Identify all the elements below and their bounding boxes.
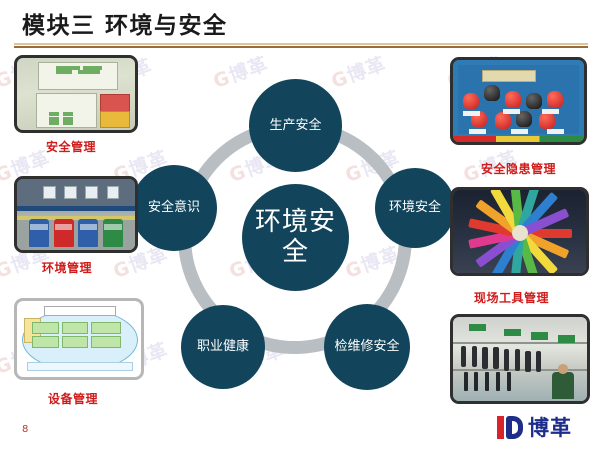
shelf-tag bbox=[504, 329, 521, 337]
tool-fan-hub bbox=[512, 225, 528, 241]
photo-environment-management-image bbox=[17, 179, 135, 250]
blue-rail bbox=[17, 206, 135, 211]
hanging-tool bbox=[504, 349, 509, 371]
diagram-node-environmental-safety[interactable]: 环境安全 bbox=[375, 168, 455, 248]
caption-hazard-management: 安全隐患管理 bbox=[481, 160, 556, 177]
board-panel-yellow bbox=[100, 111, 130, 127]
slide-canvas: G博革 G博革 G博革 G博革 G博革 G博革 G博革 G博革 G博革 G博革 … bbox=[0, 0, 600, 450]
photo-hazard-management-image bbox=[453, 60, 584, 142]
board-bar bbox=[63, 121, 74, 125]
diagram-node-occupational-health[interactable]: 职业健康 bbox=[181, 305, 265, 389]
watermark-glyph: G bbox=[0, 257, 16, 283]
diagram-title-box bbox=[44, 306, 115, 316]
wall-monitor bbox=[43, 186, 56, 199]
diagram-node-safety-awareness[interactable]: 安全意识 bbox=[131, 165, 217, 251]
valve-handle-black bbox=[484, 85, 500, 101]
shelf-tag bbox=[558, 335, 575, 343]
logo-mark-icon bbox=[497, 416, 523, 439]
board-label bbox=[469, 129, 486, 134]
board-label bbox=[547, 129, 564, 134]
board-bar bbox=[49, 121, 60, 125]
watermark-text: 博革 bbox=[344, 53, 389, 87]
valve-handle-red bbox=[547, 91, 563, 107]
board-bar bbox=[49, 112, 60, 116]
caption-environment-management: 环境管理 bbox=[42, 259, 92, 276]
valve-handle-red bbox=[505, 91, 521, 107]
photo-tool-wall bbox=[450, 314, 590, 404]
board-bar bbox=[63, 112, 74, 116]
board-panel-top bbox=[38, 62, 118, 90]
photo-hazard-management bbox=[450, 57, 587, 145]
page-number: 8 bbox=[22, 424, 28, 435]
board-label bbox=[511, 129, 528, 134]
hanging-tool bbox=[461, 346, 466, 368]
shelf-tag bbox=[469, 324, 486, 332]
wall-monitor bbox=[107, 186, 120, 199]
hanging-tool bbox=[507, 372, 511, 390]
hanging-tool bbox=[474, 372, 478, 390]
hanging-tool bbox=[472, 346, 477, 368]
diagram-cell bbox=[91, 336, 120, 348]
hanging-tool bbox=[482, 347, 487, 369]
hanging-tool bbox=[525, 351, 530, 373]
recycling-bin-green bbox=[103, 219, 123, 247]
photo-equipment-management bbox=[14, 298, 144, 380]
recycling-bin-blue bbox=[29, 219, 49, 247]
page-title: 模块三 环境与安全 bbox=[22, 6, 228, 40]
wall-monitor bbox=[64, 186, 77, 199]
wall-monitor bbox=[85, 186, 98, 199]
diagram-footer-box bbox=[27, 362, 133, 372]
hanging-tool bbox=[464, 372, 468, 390]
photo-environment-management bbox=[14, 176, 138, 253]
board-bar bbox=[56, 70, 72, 74]
worker-figure bbox=[552, 372, 573, 399]
diagram-cell bbox=[32, 322, 59, 334]
photo-site-tool-management bbox=[450, 187, 589, 276]
board-bar bbox=[63, 117, 74, 121]
hanging-tool bbox=[536, 351, 541, 373]
shelf-tag bbox=[531, 332, 548, 340]
board-label bbox=[503, 109, 520, 114]
diagram-node-production-safety[interactable]: 生产安全 bbox=[249, 79, 342, 172]
photo-safety-management bbox=[14, 55, 138, 133]
caption-safety-management: 安全管理 bbox=[46, 138, 96, 155]
hanging-tool bbox=[496, 372, 500, 390]
diagram-cell bbox=[62, 322, 89, 334]
brand-logo: 博革 bbox=[497, 412, 572, 442]
diagram-node-maintenance-safety[interactable]: 检维修安全 bbox=[324, 304, 410, 390]
diagram-cell bbox=[62, 336, 89, 348]
board-bar bbox=[49, 117, 60, 121]
logo-text: 博革 bbox=[528, 412, 572, 442]
board-label bbox=[463, 111, 480, 116]
watermark-glyph: G bbox=[210, 67, 233, 93]
title-rule-dark bbox=[14, 46, 588, 48]
watermark-glyph: G bbox=[328, 67, 351, 93]
hanging-tool bbox=[485, 372, 489, 390]
safety-color-strip bbox=[453, 136, 584, 142]
logo-g-icon bbox=[506, 416, 523, 439]
hanging-tool bbox=[493, 347, 498, 369]
board-bar bbox=[78, 70, 100, 74]
photo-equipment-management-image bbox=[17, 301, 141, 377]
title-rule-light bbox=[14, 43, 588, 45]
watermark-text: 博革 bbox=[226, 53, 271, 87]
recycling-bin-blue bbox=[78, 219, 98, 247]
board-panel-bottom bbox=[36, 93, 97, 128]
diagram-cell bbox=[32, 336, 59, 348]
watermark-glyph: G bbox=[110, 257, 133, 283]
logo-bar-icon bbox=[497, 416, 504, 439]
photo-site-tool-management-image bbox=[453, 190, 586, 273]
caption-site-tool-management: 现场工具管理 bbox=[474, 289, 549, 306]
board-header-label bbox=[482, 70, 536, 83]
photo-safety-management-image bbox=[17, 58, 135, 130]
diagram-center-environment-safety[interactable]: 环境安全 bbox=[242, 184, 349, 291]
board-label bbox=[542, 109, 559, 114]
photo-tool-wall-image bbox=[453, 317, 587, 401]
caption-equipment-management: 设备管理 bbox=[48, 390, 98, 407]
valve-handle-black bbox=[526, 93, 542, 109]
recycling-bin-red bbox=[54, 219, 74, 247]
diagram-cell bbox=[91, 322, 120, 334]
hanging-tool bbox=[515, 349, 520, 371]
board-panel-red bbox=[100, 94, 130, 112]
valve-handle-red bbox=[463, 93, 479, 109]
valve-handle-red bbox=[495, 112, 511, 128]
valve-handle-red bbox=[539, 112, 555, 128]
